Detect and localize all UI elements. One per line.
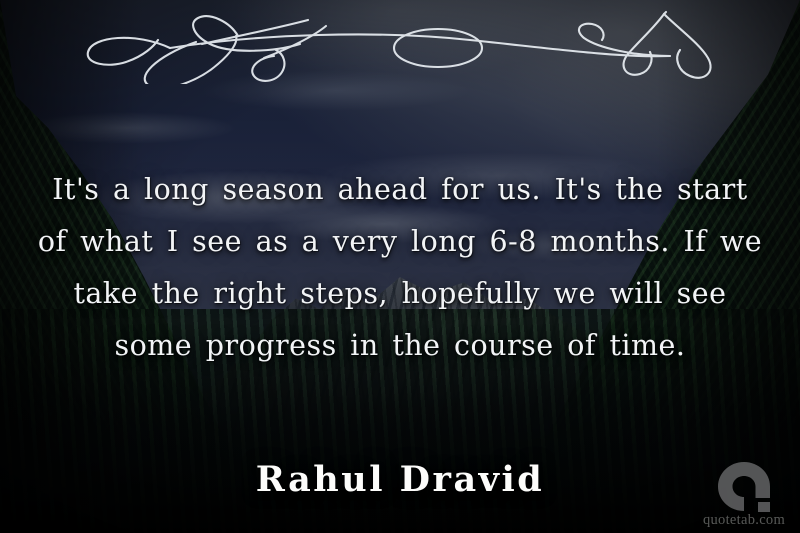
quote-author: Rahul Dravid [0,459,800,500]
card-content: It's a long season ahead for us. It's th… [0,0,800,533]
quotetab-q-logo-icon [716,460,772,512]
watermark[interactable]: quotetab.com [698,460,790,528]
quote-body: It's a long season ahead for us. It's th… [34,164,766,372]
flourish-divider-icon [78,6,722,84]
quote-card: It's a long season ahead for us. It's th… [0,0,800,533]
watermark-label: quotetab.com [698,513,790,528]
